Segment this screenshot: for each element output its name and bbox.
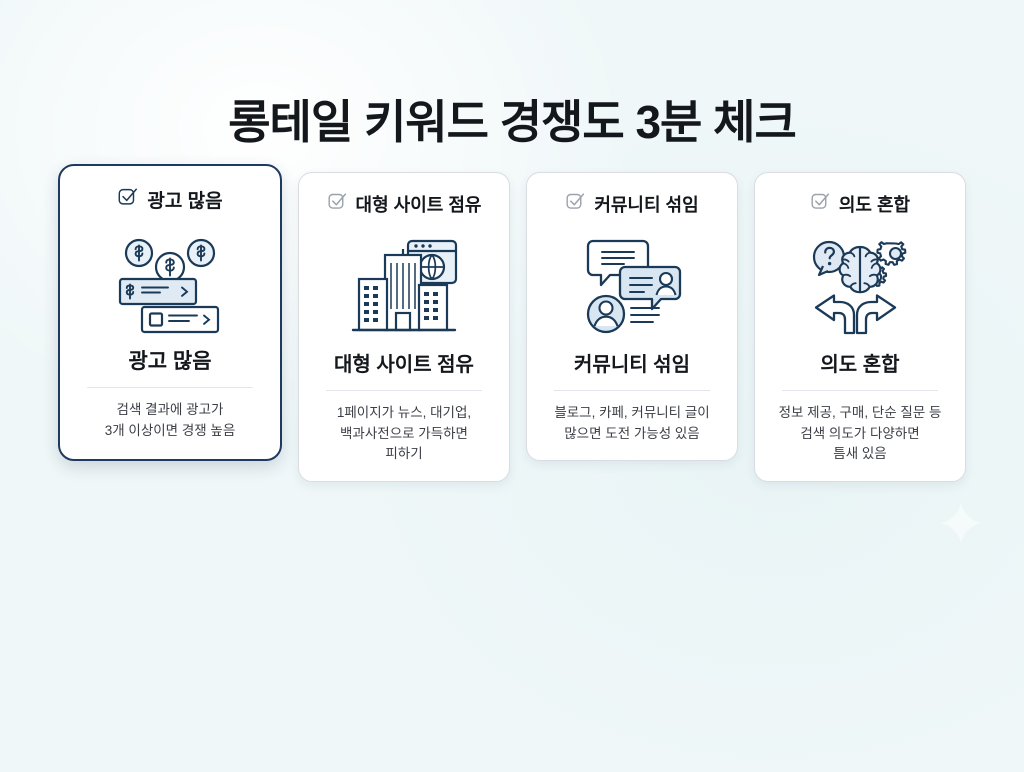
checklist-card-ads[interactable]: 광고 많음 (58, 164, 282, 461)
card-description: 블로그, 카페, 커뮤니티 글이 많으면 도전 가능성 있음 (552, 403, 711, 444)
buildings-globe-icon (313, 233, 495, 341)
card-description: 1페이지가 뉴스, 대기업, 백과사전으로 가득하면 피하기 (335, 403, 473, 465)
page-title: 롱테일 키워드 경쟁도 3분 체크 (0, 97, 1024, 148)
card-divider (326, 390, 483, 391)
card-header: 광고 많음 (74, 186, 266, 213)
card-description: 검색 결과에 광고가 3개 이상이면 경쟁 높음 (103, 400, 238, 441)
checkbox-checked-icon[interactable] (117, 186, 139, 213)
card-title: 커뮤니티 섞임 (574, 353, 690, 378)
card-header: 의도 혼합 (769, 191, 951, 217)
card-header: 커뮤니티 섞임 (541, 191, 723, 217)
card-divider (554, 390, 711, 391)
money-ads-icon (74, 229, 266, 337)
brain-intent-icon (769, 233, 951, 341)
card-title: 광고 많음 (128, 349, 211, 375)
card-divider (782, 390, 939, 391)
card-header-label: 커뮤니티 섞임 (594, 191, 698, 217)
sparkle-watermark-icon (934, 496, 988, 550)
checkbox-checked-icon[interactable] (565, 191, 586, 217)
checkbox-checked-icon[interactable] (810, 191, 831, 217)
card-header: 대형 사이트 점유 (313, 191, 495, 217)
card-title: 의도 혼합 (820, 353, 899, 378)
card-description: 정보 제공, 구매, 단순 질문 등 검색 의도가 다양하면 틈새 있음 (777, 403, 944, 465)
card-divider (87, 387, 252, 388)
checklist-card-row: 광고 많음 (0, 172, 1024, 492)
chat-community-icon (541, 233, 723, 341)
slide-canvas: 롱테일 키워드 경쟁도 3분 체크 광고 많음 (0, 0, 1024, 572)
card-header-label: 대형 사이트 점유 (356, 191, 482, 217)
card-title: 대형 사이트 점유 (334, 353, 474, 378)
checkbox-checked-icon[interactable] (327, 191, 348, 217)
checklist-card-big-sites[interactable]: 대형 사이트 점유 (298, 172, 510, 482)
card-header-label: 의도 혼합 (839, 191, 910, 217)
card-header-label: 광고 많음 (147, 186, 222, 213)
checklist-card-community[interactable]: 커뮤니티 섞임 (526, 172, 738, 461)
checklist-card-intent[interactable]: 의도 혼합 (754, 172, 966, 482)
